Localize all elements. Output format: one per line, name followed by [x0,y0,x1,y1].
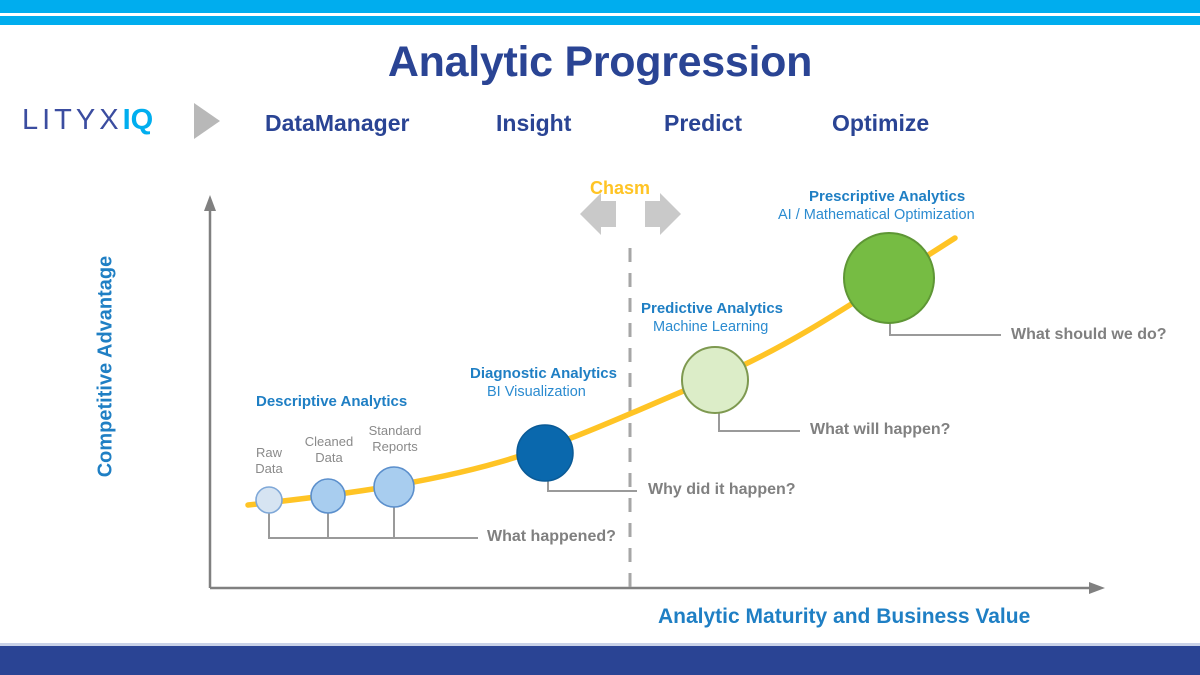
node-label-raw-data-line1: Raw [256,445,282,460]
stage-subtitle-predictive: Machine Learning [653,319,768,335]
y-axis-label: Competitive Advantage [95,237,118,497]
x-axis-label: Analytic Maturity and Business Value [658,605,1030,629]
stage-title-predictive: Predictive Analytics [641,300,783,317]
node-label-standard-reports-line1: Standard [369,423,422,438]
arrow-right-icon [645,193,681,235]
arrow-left-icon [580,193,616,235]
stage-title-prescriptive: Prescriptive Analytics [809,188,965,205]
node-label-standard-reports-line2: Reports [372,439,418,454]
stage-subtitle-diagnostic: BI Visualization [487,384,586,400]
callout-what-happened: What happened? [487,528,616,546]
chasm-label: Chasm [590,178,650,199]
node-standard-reports[interactable] [374,467,414,507]
node-prescriptive-analytics[interactable] [844,233,934,323]
callout-what-should-we-do: What should we do? [1011,326,1167,344]
stage-title-diagnostic: Diagnostic Analytics [470,365,617,382]
node-raw-data[interactable] [256,487,282,513]
node-label-standard-reports: Standard Reports [357,423,433,456]
leader-line-predictive [719,413,800,431]
node-label-cleaned-data-line1: Cleaned [305,434,353,449]
node-label-cleaned-data: Cleaned Data [294,434,364,467]
node-predictive-analytics[interactable] [682,347,748,413]
callout-what-will-happen: What will happen? [810,421,950,439]
leader-lines-descriptive [268,507,478,538]
node-label-cleaned-data-line2: Data [315,450,342,465]
callout-why-did-it-happen: Why did it happen? [648,481,796,499]
node-label-raw-data-line2: Data [255,461,282,476]
node-cleaned-data[interactable] [311,479,345,513]
node-label-raw-data: Raw Data [243,445,295,478]
bottom-band [0,646,1200,675]
leader-line-prescriptive [890,323,1001,335]
stage-title-descriptive: Descriptive Analytics [256,393,407,410]
stage-subtitle-prescriptive: AI / Mathematical Optimization [778,207,975,223]
slide-canvas: Analytic Progression LITYXIQ DataManager… [0,0,1200,675]
leader-line-diagnostic [548,481,637,491]
node-diagnostic-analytics[interactable] [517,425,573,481]
